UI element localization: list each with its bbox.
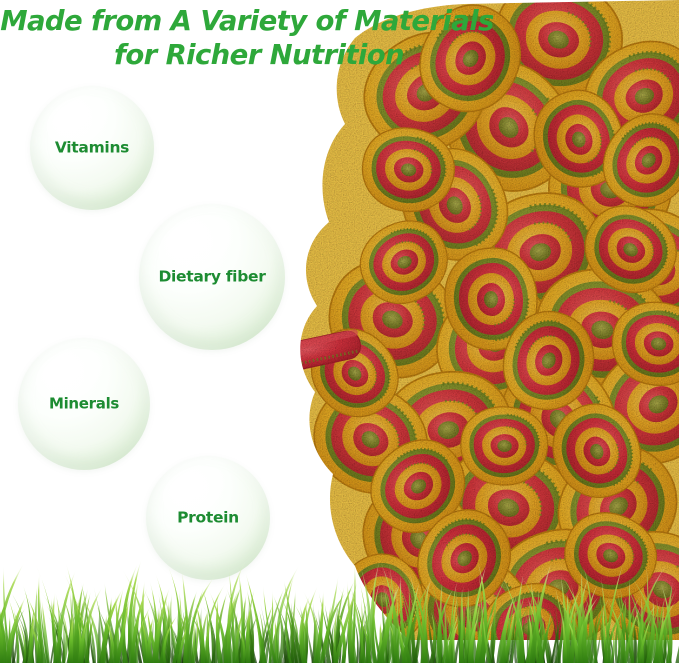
benefit-bubble-minerals: Minerals [18,338,150,470]
benefit-bubble-label: Protein [146,509,270,527]
benefit-bubble-dietary-fiber: Dietary fiber [139,204,285,350]
benefit-bubble-label: Minerals [18,395,150,413]
benefit-bubble-label: Vitamins [30,139,154,157]
benefit-bubble-vitamins: Vitamins [30,86,154,210]
grass-border [0,543,679,663]
benefit-bubble-label: Dietary fiber [139,268,285,286]
product-marketing-poster: Made from A Variety of Materials for Ric… [0,0,679,663]
